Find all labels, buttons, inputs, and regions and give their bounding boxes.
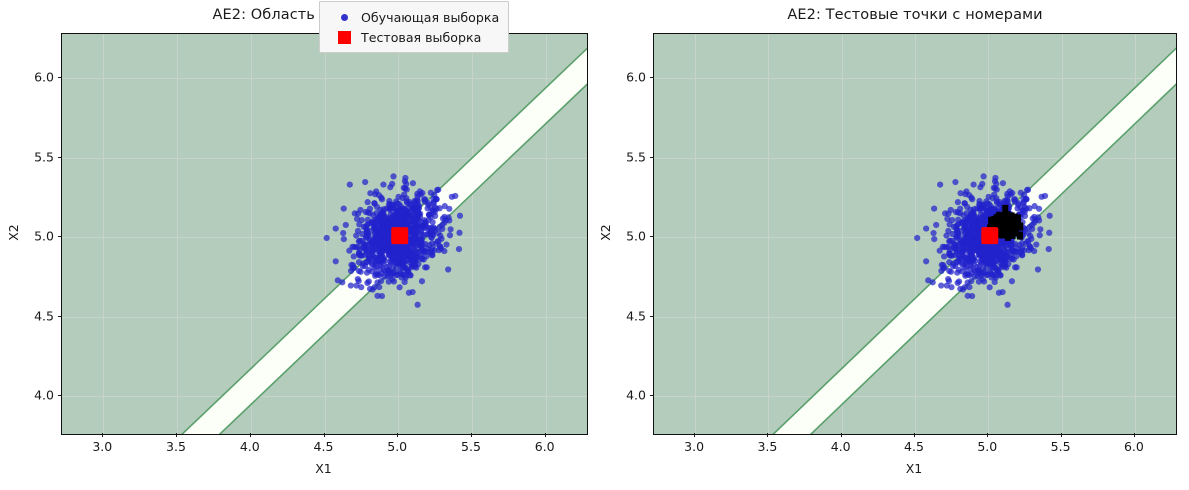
legend-square-icon [327, 31, 361, 44]
x-tick-label: 5.5 [461, 439, 481, 454]
x-tick-mark [841, 433, 842, 437]
x-tick-mark [1061, 433, 1062, 437]
x-tick-mark [545, 433, 546, 437]
y-tick-mark [650, 316, 654, 317]
y-tick-label: 4.0 [21, 387, 54, 402]
y-tick-mark [58, 236, 62, 237]
y-tick-mark [650, 236, 654, 237]
x-tick-mark [102, 433, 103, 437]
legend-label-test: Тестовая выборка [361, 30, 481, 45]
y-tick-label: 5.0 [613, 229, 646, 244]
y-tick-label: 5.5 [613, 149, 646, 164]
y-tick-mark [650, 157, 654, 158]
x-tick-label: 3.5 [757, 439, 777, 454]
x-axis-label: X1 [653, 461, 1175, 476]
x-tick-label: 4.0 [831, 439, 851, 454]
figure-canvas: AE2: Область распознавания Обучающая выб… [0, 0, 1189, 490]
x-tick-mark [176, 433, 177, 437]
panel-left: AE2: Область распознавания Обучающая выб… [0, 0, 600, 490]
x-tick-mark [767, 433, 768, 437]
legend-box: Обучающая выборка Тестовая выборка [319, 1, 509, 53]
y-tick-label: 4.5 [21, 308, 54, 323]
y-tick-label: 6.0 [613, 70, 646, 85]
x-tick-label: 5.0 [977, 439, 997, 454]
y-axis-label: X2 [6, 224, 21, 241]
y-tick-mark [650, 395, 654, 396]
y-axis-label: X2 [598, 224, 613, 241]
y-tick-mark [58, 316, 62, 317]
y-tick-mark [58, 77, 62, 78]
legend-circle-icon [327, 14, 361, 21]
scatter-layer [62, 34, 587, 434]
x-tick-mark [397, 433, 398, 437]
x-tick-mark [987, 433, 988, 437]
x-tick-mark [1134, 433, 1135, 437]
panel-right-axes [653, 33, 1177, 435]
x-tick-label: 3.5 [166, 439, 186, 454]
x-tick-mark [324, 433, 325, 437]
x-tick-label: 6.0 [1124, 439, 1144, 454]
x-tick-label: 4.5 [314, 439, 334, 454]
x-tick-label: 5.0 [387, 439, 407, 454]
x-axis-label: X1 [61, 461, 586, 476]
x-tick-label: 3.0 [92, 439, 112, 454]
scatter-layer [654, 34, 1176, 434]
series-test-point [981, 227, 998, 244]
panel-right-title: AE2: Тестовые точки с номерами [653, 7, 1177, 23]
legend-label-train: Обучающая выборка [361, 10, 499, 25]
legend-item-test: Тестовая выборка [327, 27, 499, 47]
x-tick-label: 4.0 [240, 439, 260, 454]
series-test-point [391, 227, 408, 244]
x-tick-label: 3.0 [684, 439, 704, 454]
y-tick-label: 6.0 [21, 70, 54, 85]
panel-right: AE2: Тестовые точки с номерами 3.03.54.0… [600, 0, 1189, 490]
x-tick-mark [914, 433, 915, 437]
x-tick-label: 5.5 [1051, 439, 1071, 454]
y-tick-mark [58, 157, 62, 158]
x-tick-label: 6.0 [535, 439, 555, 454]
x-tick-label: 4.5 [904, 439, 924, 454]
y-tick-label: 5.5 [21, 149, 54, 164]
y-tick-label: 4.5 [613, 308, 646, 323]
y-tick-mark [58, 395, 62, 396]
x-tick-mark [694, 433, 695, 437]
x-tick-mark [250, 433, 251, 437]
y-tick-label: 5.0 [21, 229, 54, 244]
y-tick-mark [650, 77, 654, 78]
panel-left-axes [61, 33, 588, 435]
x-tick-mark [471, 433, 472, 437]
y-tick-label: 4.0 [613, 387, 646, 402]
legend-item-train: Обучающая выборка [327, 7, 499, 27]
